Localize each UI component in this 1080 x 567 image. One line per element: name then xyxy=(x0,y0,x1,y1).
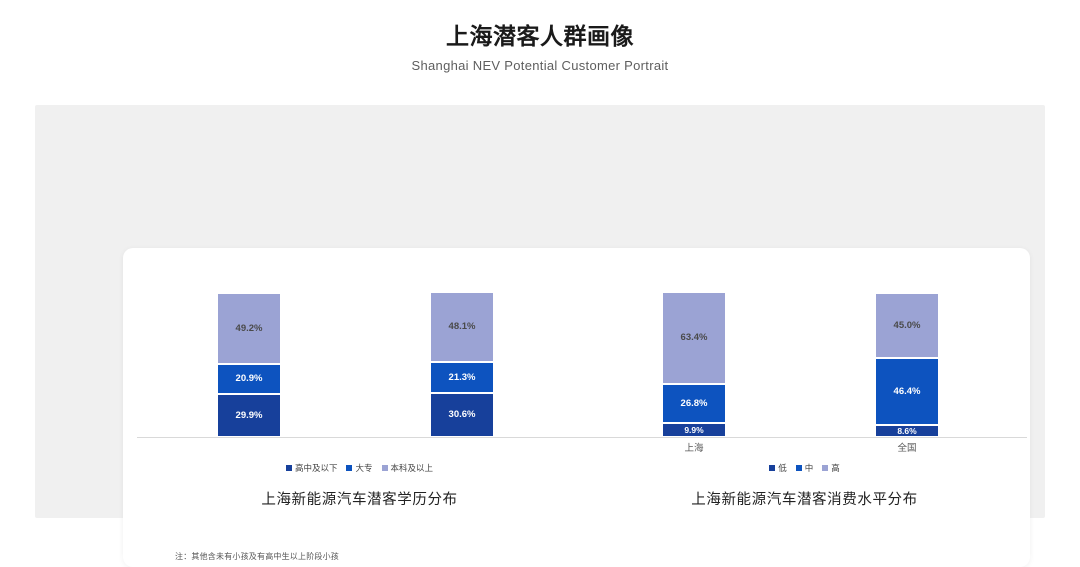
stacked-bar[interactable]: 48.1% 21.3% 30.6% xyxy=(430,292,494,437)
legend-label: 低 xyxy=(778,462,787,474)
footnote-text: 注：其他含未有小孩及有高中生以上阶段小孩 xyxy=(175,551,339,562)
bar-segment-mid[interactable]: 21.3% xyxy=(430,362,494,393)
bar-segment-low[interactable]: 8.6% xyxy=(875,425,939,437)
legend-swatch-icon xyxy=(822,465,828,471)
stacked-bar[interactable]: 49.2% 20.9% 29.9% xyxy=(217,293,281,437)
page-header: 上海潜客人群画像 Shanghai NEV Potential Customer… xyxy=(0,0,1080,73)
x-axis-label-shanghai: 上海 xyxy=(662,440,726,454)
legend-swatch-icon xyxy=(286,465,292,471)
charts-row: 49.2% 20.9% 29.9% 48.1% 21.3% 30.6% 高中及 xyxy=(123,248,1030,518)
bar-segment-high[interactable]: 49.2% xyxy=(217,293,281,364)
bar-segment-mid[interactable]: 46.4% xyxy=(875,358,939,425)
page-title: 上海潜客人群画像 xyxy=(0,22,1080,51)
legend-item-low[interactable]: 高中及以下 xyxy=(286,462,338,474)
legend-swatch-icon xyxy=(796,465,802,471)
stacked-bar[interactable]: 63.4% 26.8% 9.9% xyxy=(662,292,726,437)
bar-segment-low[interactable]: 29.9% xyxy=(217,394,281,437)
chart-caption-education: 上海新能源汽车潜客学历分布 xyxy=(137,488,582,509)
legend-swatch-icon xyxy=(346,465,352,471)
slide-panel: 49.2% 20.9% 29.9% 48.1% 21.3% 30.6% 高中及 xyxy=(35,105,1045,518)
x-axis-label-nationwide: 全国 xyxy=(875,440,939,454)
chart-education-distribution: 49.2% 20.9% 29.9% 48.1% 21.3% 30.6% 高中及 xyxy=(137,248,582,518)
bar-segment-mid[interactable]: 20.9% xyxy=(217,364,281,394)
legend-label: 本科及以上 xyxy=(391,462,434,474)
charts-card: 49.2% 20.9% 29.9% 48.1% 21.3% 30.6% 高中及 xyxy=(123,248,1030,567)
legend-swatch-icon xyxy=(382,465,388,471)
plot-area-education: 49.2% 20.9% 29.9% 48.1% 21.3% 30.6% xyxy=(137,293,582,438)
chart-legend-education: 高中及以下 大专 本科及以上 xyxy=(137,462,582,474)
x-axis-line xyxy=(137,437,582,438)
chart-legend-consumption: 低 中 高 xyxy=(582,462,1027,474)
legend-item-high[interactable]: 本科及以上 xyxy=(382,462,434,474)
bar-segment-high[interactable]: 48.1% xyxy=(430,292,494,362)
legend-label: 中 xyxy=(805,462,814,474)
bar-segment-low[interactable]: 9.9% xyxy=(662,423,726,437)
bar-segment-mid[interactable]: 26.8% xyxy=(662,384,726,423)
legend-label: 大专 xyxy=(355,462,372,474)
x-axis-line xyxy=(582,437,1027,438)
chart-caption-consumption: 上海新能源汽车潜客消费水平分布 xyxy=(582,488,1027,509)
page-subtitle: Shanghai NEV Potential Customer Portrait xyxy=(0,58,1080,73)
chart-consumption-distribution: 63.4% 26.8% 9.9% 45.0% 46.4% 8.6% 上海 全国 xyxy=(582,248,1027,518)
legend-item-low[interactable]: 低 xyxy=(769,462,787,474)
bar-segment-low[interactable]: 30.6% xyxy=(430,393,494,437)
legend-label: 高 xyxy=(831,462,840,474)
legend-item-mid[interactable]: 大专 xyxy=(346,462,372,474)
legend-item-mid[interactable]: 中 xyxy=(796,462,814,474)
stacked-bar[interactable]: 45.0% 46.4% 8.6% xyxy=(875,293,939,437)
bar-segment-high[interactable]: 63.4% xyxy=(662,292,726,384)
bar-segment-high[interactable]: 45.0% xyxy=(875,293,939,358)
legend-item-high[interactable]: 高 xyxy=(822,462,840,474)
legend-label: 高中及以下 xyxy=(295,462,338,474)
plot-area-consumption: 63.4% 26.8% 9.9% 45.0% 46.4% 8.6% xyxy=(582,293,1027,438)
x-axis-categories: 上海 全国 xyxy=(582,440,1027,456)
legend-swatch-icon xyxy=(769,465,775,471)
